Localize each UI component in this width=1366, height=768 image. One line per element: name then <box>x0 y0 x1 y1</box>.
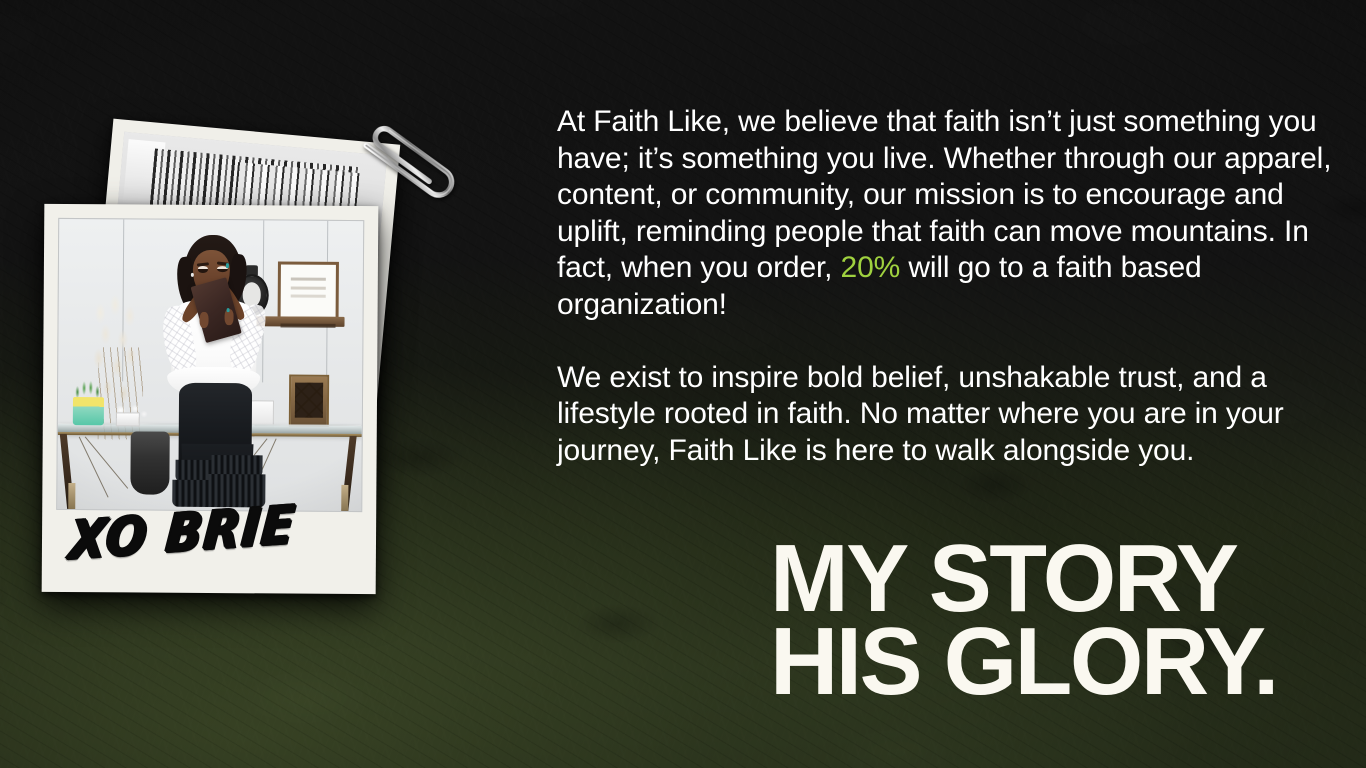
photo-card-caption: XO BRIE <box>56 510 363 592</box>
wooden-lantern <box>289 374 329 426</box>
paragraph-two: We exist to inspire bold belief, unshaka… <box>557 360 1347 470</box>
photo-scene <box>57 219 363 511</box>
slide-canvas: XO BRIE <box>0 0 1366 768</box>
white-box <box>116 412 140 427</box>
front-photo-card: XO BRIE <box>42 204 379 594</box>
donation-percentage: 20% <box>841 251 901 284</box>
fingernail <box>226 264 229 268</box>
about-body-copy: At Faith Like, we believe that faith isn… <box>557 104 1347 469</box>
desk-leg-foot <box>68 483 75 509</box>
model-figure <box>148 234 284 510</box>
headline-line-2: HIS GLORY. <box>770 620 1277 703</box>
wall-shelf-lip <box>280 323 335 327</box>
photo-card-cluster: XO BRIE <box>0 0 500 640</box>
paragraph-one: At Faith Like, we believe that faith isn… <box>557 104 1347 323</box>
hand <box>199 312 208 329</box>
fingernail <box>227 308 230 312</box>
front-photo-image <box>56 218 364 512</box>
wall-picture-frame <box>277 261 338 319</box>
desk-leg-foot <box>341 485 348 511</box>
headline-block: MY STORY HIS GLORY. <box>770 537 1277 703</box>
eye <box>198 266 209 272</box>
plant-pot <box>73 397 104 425</box>
